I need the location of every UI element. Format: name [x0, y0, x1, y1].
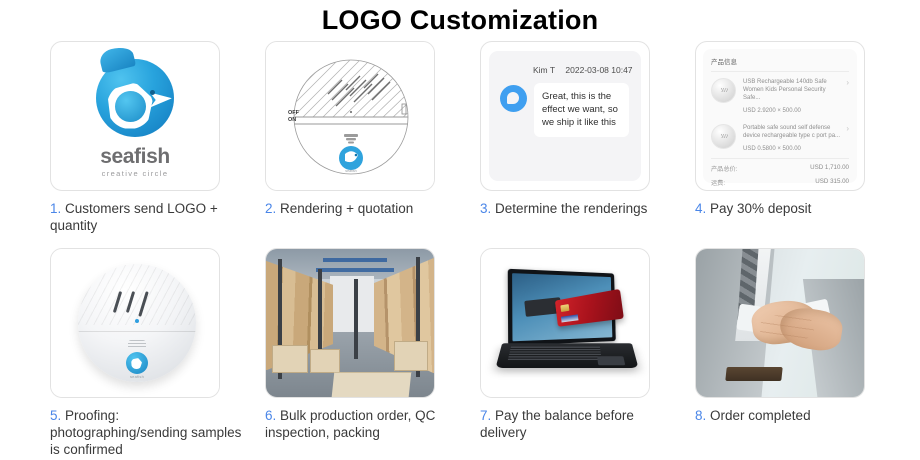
chat-sender: Kim T	[533, 65, 555, 75]
logo-fin-shape	[98, 44, 136, 74]
step-text-2: Rendering + quotation	[280, 201, 413, 216]
product-brand-label: seafish	[124, 374, 150, 379]
product-thumbnail	[711, 124, 736, 149]
step-number-3: 3.	[480, 201, 491, 216]
order-total-row: 产品总价: USD 1,710.00	[711, 159, 849, 173]
page-title: LOGO Customization	[0, 0, 920, 41]
product-vent-slots	[114, 291, 156, 313]
product-speaker-grille	[128, 340, 146, 349]
order-item-body: USB Rechargeable 140db Safe Women Kids P…	[743, 78, 841, 114]
logo-tagline: creative circle	[102, 169, 169, 178]
step-text-7: Pay the balance before delivery	[480, 408, 634, 440]
steps-grid: seafish creative circle 1. Customers sen…	[0, 41, 920, 433]
logo-eye-dot	[150, 90, 155, 95]
step-image-chat[interactable]: Kim T 2022-03-08 10:47 Great, this is th…	[480, 41, 650, 191]
product-seam-line	[78, 331, 196, 332]
step-card-1: seafish creative circle 1. Customers sen…	[50, 41, 265, 226]
step-card-4: 产品信息 USB Rechargeable 140db Safe Women K…	[695, 41, 910, 226]
product-seafish-logo-icon	[126, 352, 148, 374]
step-card-2: OFF ON seafish 2. Rendering + quotation	[265, 41, 480, 226]
step-card-6: 6. Bulk production order, QC inspection,…	[265, 248, 480, 433]
step-text-6: Bulk production order, QC inspection, pa…	[265, 408, 435, 440]
seafish-logo-icon: seafish creative circle	[51, 42, 219, 190]
belt	[725, 367, 782, 381]
step-text-8: Order completed	[710, 408, 811, 423]
step-caption-8: 8. Order completed	[695, 407, 891, 424]
step-number-2: 2.	[265, 201, 276, 216]
step-image-order[interactable]: 产品信息 USB Rechargeable 140db Safe Women K…	[695, 41, 865, 191]
chat-message-row: Great, this is the effect we want, so we…	[500, 83, 629, 137]
order-shipping-value: USD 315.00	[815, 178, 849, 187]
rendering-off-label: OFF	[288, 110, 299, 116]
avatar	[500, 85, 527, 112]
step-number-8: 8.	[695, 408, 706, 423]
step-number-4: 4.	[695, 201, 706, 216]
product-led-indicator	[135, 319, 139, 323]
laptop-base	[495, 343, 638, 368]
step-card-5: seafish 5. Proofing: photographing/sendi…	[50, 248, 265, 433]
order-shipping-row: 运费: USD 315.00	[711, 173, 849, 187]
step-caption-2: 2. Rendering + quotation	[265, 200, 461, 217]
logo-tail-shape	[150, 93, 172, 108]
warehouse-box	[394, 341, 428, 371]
step-caption-1: 1. Customers send LOGO + quantity	[50, 200, 246, 234]
step-caption-4: 4. Pay 30% deposit	[695, 200, 891, 217]
step-image-seafish-logo[interactable]: seafish creative circle	[50, 41, 220, 191]
step-card-3: Kim T 2022-03-08 10:47 Great, this is th…	[480, 41, 695, 226]
order-item-price: USD 2.9200 × 500.00	[743, 108, 841, 114]
step-image-payment[interactable]	[480, 248, 650, 398]
card-stripe	[561, 314, 579, 322]
warehouse-upright	[354, 279, 358, 359]
order-shipping-label: 运费:	[711, 178, 725, 187]
laptop-keyboard	[508, 347, 602, 360]
step-number-7: 7.	[480, 408, 491, 423]
step-caption-6: 6. Bulk production order, QC inspection,…	[265, 407, 461, 441]
handshake-photo	[696, 249, 864, 397]
chat-bubble: Great, this is the effect we want, so we…	[534, 83, 629, 137]
product-sample-photo: seafish	[51, 249, 219, 397]
warehouse-beam	[316, 268, 393, 272]
step-text-5: Proofing: photographing/sending samples …	[50, 408, 241, 457]
order-item-price: USD 0.5800 × 500.00	[743, 146, 841, 152]
order-total-value: USD 1,710.00	[810, 164, 849, 173]
order-summary-panel: 产品信息 USB Rechargeable 140db Safe Women K…	[703, 49, 857, 183]
warehouse-back-wall	[330, 276, 374, 338]
step-caption-3: 3. Determine the renderings	[480, 200, 676, 217]
order-item-title: USB Rechargeable 140db Safe Women Kids P…	[743, 78, 841, 102]
step-caption-7: 7. Pay the balance before delivery	[480, 407, 676, 441]
order-item-body: Portable safe sound self defense device …	[743, 124, 841, 152]
order-total-label: 产品总价:	[711, 164, 737, 173]
step-number-1: 1.	[50, 201, 61, 216]
logo-dolphin-circle	[96, 59, 174, 137]
step-text-3: Determine the renderings	[495, 201, 647, 216]
warehouse-box	[310, 349, 340, 373]
rendering-linework-icon: OFF ON seafish	[266, 42, 434, 190]
step-image-warehouse[interactable]	[265, 248, 435, 398]
fingers-detail	[760, 315, 814, 341]
product-thumbnail	[711, 78, 736, 103]
step-card-7: 7. Pay the balance before delivery	[480, 248, 695, 433]
order-item-title: Portable safe sound self defense device …	[743, 124, 841, 140]
order-line-item[interactable]: USB Rechargeable 140db Safe Women Kids P…	[711, 72, 849, 118]
step-number-6: 6.	[265, 408, 276, 423]
chat-meta: Kim T 2022-03-08 10:47	[533, 65, 633, 75]
step-image-sample[interactable]: seafish	[50, 248, 220, 398]
card-chip	[560, 304, 569, 312]
chevron-right-icon[interactable]: ›	[841, 78, 849, 88]
chat-panel: Kim T 2022-03-08 10:47 Great, this is th…	[489, 51, 641, 181]
order-line-item[interactable]: Portable safe sound self defense device …	[711, 118, 849, 156]
rendering-brand-label: seafish	[336, 169, 366, 173]
laptop-credit-card-illustration	[481, 249, 649, 397]
warehouse-pallet	[332, 372, 412, 397]
step-text-1: Customers send LOGO + quantity	[50, 201, 218, 233]
rendering-on-label: ON	[288, 117, 296, 123]
logo-inner-circle	[115, 91, 146, 122]
chevron-right-icon[interactable]: ›	[841, 124, 849, 134]
step-number-5: 5.	[50, 408, 61, 423]
warehouse-photo	[266, 249, 434, 397]
warehouse-beam	[323, 258, 387, 262]
order-panel-header: 产品信息	[711, 56, 849, 72]
step-card-8: 8. Order completed	[695, 248, 910, 433]
logo-wordmark: seafish	[100, 146, 170, 167]
product-body: seafish	[78, 264, 196, 382]
step-caption-5: 5. Proofing: photographing/sending sampl…	[50, 407, 246, 458]
step-image-rendering[interactable]: OFF ON seafish	[265, 41, 435, 191]
chat-timestamp: 2022-03-08 10:47	[565, 65, 632, 75]
warehouse-box	[272, 345, 308, 373]
laptop-trackpad	[597, 356, 625, 365]
step-image-handshake[interactable]	[695, 248, 865, 398]
step-text-4: Pay 30% deposit	[710, 201, 811, 216]
